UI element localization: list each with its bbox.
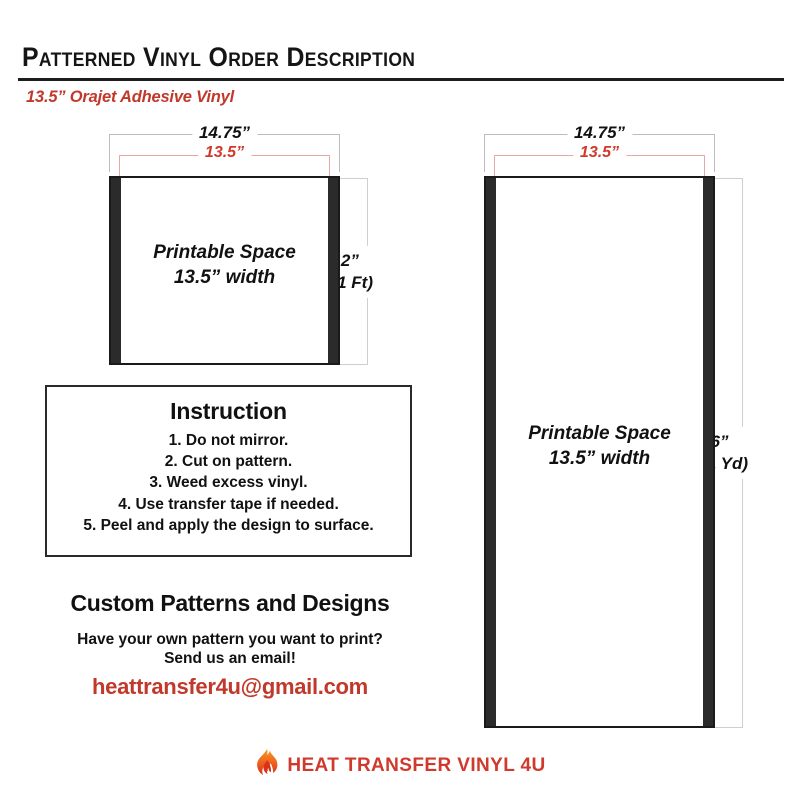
- printable-space-line2: 13.5” width: [549, 448, 650, 469]
- printable-space-label-right: Printable Space 13.5” width: [486, 421, 713, 471]
- instruction-item: 4. Use transfer tape if needed.: [47, 494, 410, 515]
- page-title: Patterned Vinyl Order Description: [22, 42, 415, 73]
- dimension-height-right: 36” (1 Yd): [715, 178, 743, 728]
- dimension-inner-width-left: 13.5”: [119, 155, 330, 178]
- sheet-edge-band-left: [111, 178, 121, 363]
- title-divider: [18, 78, 784, 81]
- brand-name: HEAT TRANSFER VINYL 4U: [287, 755, 545, 777]
- dimension-inner-width-right: 13.5”: [494, 155, 705, 178]
- instruction-title: Instruction: [47, 398, 410, 425]
- printable-space-line1: Printable Space: [528, 423, 671, 444]
- dimension-inner-width-right-label: 13.5”: [573, 144, 626, 162]
- instruction-item: 1. Do not mirror.: [47, 430, 410, 451]
- footer-brand: HEAT TRANSFER VINYL 4U: [0, 748, 800, 783]
- instruction-item: 5. Peel and apply the design to surface.: [47, 515, 410, 536]
- flame-icon: [254, 748, 280, 783]
- contact-email[interactable]: heattransfer4u@gmail.com: [0, 674, 460, 700]
- instruction-item: 2. Cut on pattern.: [47, 451, 410, 472]
- instruction-item: 3. Weed excess vinyl.: [47, 472, 410, 493]
- sheet-edge-band-right: [328, 178, 338, 363]
- dimension-outer-width-left-label: 14.75”: [192, 123, 257, 143]
- vinyl-sheet-36-inch: Printable Space 13.5” width: [484, 176, 715, 728]
- printable-space-label-left: Printable Space 13.5” width: [111, 240, 338, 290]
- vinyl-sheet-12-inch: Printable Space 13.5” width: [109, 176, 340, 365]
- sheet-edge-band-left: [486, 178, 496, 726]
- custom-patterns-heading: Custom Patterns and Designs: [0, 590, 460, 617]
- custom-patterns-line2: Send us an email!: [0, 650, 460, 668]
- printable-space-line2: 13.5” width: [174, 267, 275, 288]
- sheet-edge-band-right: [703, 178, 713, 726]
- page-subtitle: 13.5” Orajet Adhesive Vinyl: [26, 88, 234, 107]
- printable-space-line1: Printable Space: [153, 242, 296, 263]
- dimension-inner-width-left-label: 13.5”: [198, 144, 251, 162]
- custom-patterns-line1: Have your own pattern you want to print?: [0, 631, 460, 649]
- dimension-outer-width-right-label: 14.75”: [567, 123, 632, 143]
- dimension-height-left: 12” (1 Ft): [340, 178, 368, 365]
- instruction-box: Instruction 1. Do not mirror. 2. Cut on …: [45, 385, 412, 557]
